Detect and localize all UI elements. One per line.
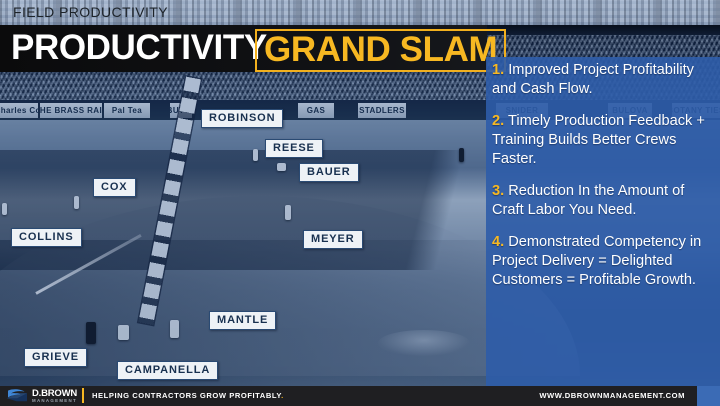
benefits-list: 1. Improved Project Profitability and Ca… (492, 61, 718, 303)
benefit-item: 2. Timely Production Feedback + Training… (492, 112, 718, 169)
footer-tagline-dot: . (281, 391, 284, 400)
player-callout: MANTLE (209, 311, 276, 330)
player-callout: GRIEVE (24, 348, 87, 367)
benefit-item: 1. Improved Project Profitability and Ca… (492, 61, 718, 99)
benefit-number: 4. (492, 234, 504, 250)
top-bar: FIELD PRODUCTIVITY (0, 0, 720, 25)
brand-logo[interactable]: D.BROWN MANAGEMENT (6, 388, 77, 404)
footer-tagline: HELPING CONTRACTORS GROW PROFITABLY. (92, 391, 284, 400)
slide: Charles Co.THE BRASS RAILPal TeaBUTTEGAS… (0, 0, 720, 406)
footer-url[interactable]: WWW.DBROWNMANAGEMENT.COM (539, 391, 685, 400)
eyebrow-label: FIELD PRODUCTIVITY (13, 4, 168, 20)
benefit-item: 4. Demonstrated Competency in Project De… (492, 233, 718, 290)
benefit-number: 2. (492, 113, 504, 129)
benefit-item: 3. Reduction In the Amount of Craft Labo… (492, 182, 718, 220)
player-callout: COX (93, 178, 136, 197)
player-callout: CAMPANELLA (117, 361, 218, 380)
logo-subtitle: MANAGEMENT (32, 399, 77, 403)
page-title: PRODUCTIVITY (11, 29, 267, 67)
benefits-panel: 1. Improved Project Profitability and Ca… (486, 57, 720, 386)
title-accent-box: GRAND SLAM (255, 29, 506, 72)
player-callout: MEYER (303, 230, 363, 249)
benefit-number: 3. (492, 183, 504, 199)
benefit-number: 1. (492, 62, 504, 78)
player-callout: ROBINSON (201, 109, 283, 128)
benefit-text: Reduction In the Amount of Craft Labor Y… (492, 183, 684, 218)
footer-divider (82, 388, 84, 403)
footer-tagline-text: HELPING CONTRACTORS GROW PROFITABLY (92, 391, 281, 400)
player-callout: COLLINS (11, 228, 82, 247)
benefit-text: Improved Project Profitability and Cash … (492, 62, 694, 97)
logo-wordmark: D.BROWN MANAGEMENT (32, 389, 77, 403)
book-swoosh-icon (6, 389, 28, 403)
benefit-text: Demonstrated Competency in Project Deliv… (492, 234, 701, 288)
player-callout: BAUER (299, 163, 359, 182)
title-accent: GRAND SLAM (264, 30, 497, 69)
player-callout: REESE (265, 139, 323, 158)
benefit-text: Timely Production Feedback + Training Bu… (492, 113, 705, 167)
footer-accent-block (697, 386, 720, 406)
